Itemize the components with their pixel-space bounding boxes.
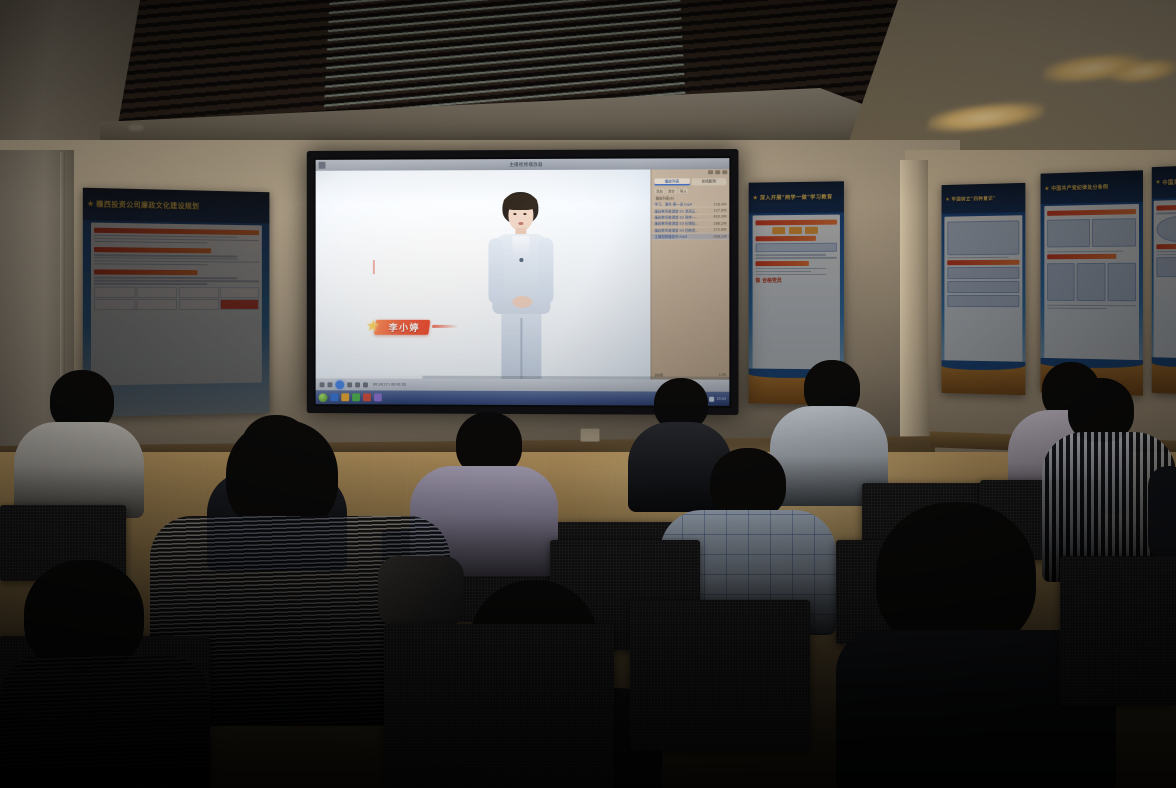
media-player-icon[interactable] <box>352 393 360 401</box>
poster-text-line <box>755 257 837 259</box>
presentation-display[interactable]: 主播视频播放器 <box>307 149 739 415</box>
poster-d-title: 中国共产党章程 <box>1162 177 1176 186</box>
poster-photo <box>220 299 259 310</box>
poster-block <box>1077 263 1105 301</box>
add-button[interactable]: 添加 <box>655 189 665 194</box>
tab-playlist[interactable]: 播放列表 <box>655 178 690 185</box>
poster-photo <box>179 287 219 298</box>
poster-ribbon <box>94 247 211 253</box>
poster-block <box>948 267 1019 279</box>
poster-photo <box>137 287 178 298</box>
office-icon[interactable] <box>363 393 371 401</box>
playlist-panel[interactable]: 播放列表 在线影院 添加 清空 导入 播放列表(6) 学习、课件-第一讲.mp4… <box>650 169 729 380</box>
poster-block <box>1157 257 1176 277</box>
party-emblem-icon: ★ <box>1044 185 1049 193</box>
app-icon <box>319 162 326 169</box>
poster-b-body <box>945 215 1022 366</box>
poster-ribbon <box>755 220 837 226</box>
playlist-item-name: 主播视频播放中.mp4 <box>655 234 688 239</box>
ceiling-speaker-icon <box>128 124 144 131</box>
stop-icon[interactable] <box>320 382 325 387</box>
presenter-figure <box>473 192 569 380</box>
poster-ribbon <box>1047 209 1135 216</box>
previous-icon[interactable] <box>327 382 332 387</box>
poster-photo <box>94 299 135 310</box>
attendee-shadow <box>0 656 210 788</box>
poster-left-title: 赣西投资公司廉政文化建设规划 <box>96 199 199 211</box>
chat-icon[interactable] <box>374 393 382 401</box>
playlist-item-name: 廉政教育微课堂 03 纪律处.. <box>655 221 698 226</box>
poster-text-line <box>94 277 237 279</box>
poster-a-body: 做 合格党员 <box>752 215 840 374</box>
chair-front-3[interactable] <box>630 600 810 750</box>
playlist-item-selected[interactable]: 主播视频播放中.mp4 306.1M <box>651 234 729 241</box>
speaker-name: 李小婷 <box>389 321 420 334</box>
poster-photo <box>220 287 259 298</box>
poster-text-line <box>1047 305 1135 307</box>
folder-icon[interactable] <box>341 393 349 401</box>
poster-left-body <box>91 222 263 385</box>
wall-socket-icon <box>580 428 600 442</box>
presenter-trouser-seam <box>520 318 522 379</box>
poster-text-line <box>948 256 1009 258</box>
attendee-1 <box>14 370 144 510</box>
tab-online-cinema[interactable]: 在线影院 <box>691 178 726 185</box>
playlist-item-name: 廉政教育微课堂 01 清风正.. <box>655 208 698 213</box>
playlist-item-size: 172.8M <box>714 228 727 232</box>
poster-chip <box>773 227 786 234</box>
attendee-front-dark-3 <box>0 560 210 788</box>
minimize-icon[interactable] <box>708 170 713 174</box>
presenter-arm <box>538 238 553 304</box>
party-emblem-icon: ★ <box>753 194 758 202</box>
poster-c-title: 中国共产党纪律处分条例 <box>1051 184 1108 193</box>
playlist-item-name: 学习、课件-第一讲.mp4 <box>655 202 692 207</box>
clear-button[interactable]: 清空 <box>666 188 676 193</box>
display-surface[interactable]: 主播视频播放器 <box>316 158 730 406</box>
video-canvas[interactable]: ★ 李小婷 <box>316 169 651 379</box>
poster-chip <box>805 227 818 234</box>
poster-ribbon <box>94 227 260 235</box>
window-controls[interactable] <box>708 170 727 174</box>
poster-text-line <box>94 280 260 282</box>
poster-d-header: ★ 中国共产党章程 <box>1152 165 1176 199</box>
poster-ribbon <box>1157 205 1176 211</box>
video-marker <box>373 260 375 274</box>
poster-b-title: 牢固树立"四种意识" <box>952 195 996 202</box>
poster-b-header: ★ 牢固树立"四种意识" <box>942 183 1026 214</box>
poster-text-line <box>1047 251 1123 253</box>
chair-front-4[interactable] <box>1060 556 1176 706</box>
poster-chip <box>789 227 802 234</box>
playback-time: 00:24:17 / 00:41:02 <box>373 382 406 386</box>
poster-photo <box>179 299 219 310</box>
poster-ribbon <box>1157 243 1176 248</box>
poster-dangzhang: ★ 中国共产党章程 <box>1152 165 1176 395</box>
poster-text-line <box>1157 250 1176 252</box>
poster-text-line <box>94 241 208 244</box>
poster-ribbon <box>948 260 1019 265</box>
poster-ribbon <box>755 261 809 266</box>
presenter-arm <box>488 238 503 304</box>
poster-a-header: ★ 深入开展"两学一做"学习教育 <box>749 181 844 213</box>
poster-text-line <box>1157 253 1176 255</box>
poster-d-body <box>1154 199 1176 362</box>
poster-block <box>1107 263 1136 302</box>
poster-left-header: ★ 赣西投资公司廉政文化建设规划 <box>83 188 270 223</box>
poster-ribbon <box>1047 254 1116 260</box>
poster-text-line <box>755 271 810 273</box>
star-icon: ★ <box>365 319 384 336</box>
presenter-mouth <box>518 222 523 225</box>
playlist-item-size: 218.4M <box>714 202 727 206</box>
play-button[interactable] <box>335 380 344 389</box>
maximize-icon[interactable] <box>715 170 720 174</box>
playlist-item-size: 186.2M <box>714 221 727 225</box>
poster-text-line <box>94 283 208 285</box>
poster-text-line <box>1047 308 1107 310</box>
party-emblem-icon: ★ <box>1155 179 1160 187</box>
poster-a-title: 深入开展"两学一做"学习教育 <box>760 194 833 202</box>
attendee-shoulders <box>14 422 144 518</box>
media-player-body: ★ 李小婷 播放列表 在线影院 添加 <box>316 169 730 380</box>
playlist-item-size: 127.6M <box>714 209 727 213</box>
poster-block <box>755 243 837 253</box>
poster-diagram <box>948 220 1019 255</box>
poster-ribbon <box>94 270 198 276</box>
window-title: 主播视频播放器 <box>325 161 729 169</box>
poster-block <box>1047 263 1075 301</box>
poster-c-header: ★ 中国共产党纪律处分条例 <box>1041 170 1143 204</box>
presenter-eye <box>523 213 526 215</box>
import-button[interactable]: 导入 <box>678 188 688 193</box>
poster-text-line <box>755 274 825 276</box>
poster-text-line <box>755 254 825 256</box>
playlist-item-size: 306.1M <box>714 234 727 238</box>
start-button-icon[interactable] <box>319 393 328 402</box>
presenter-hands <box>512 296 532 308</box>
poster-photo <box>137 299 178 310</box>
party-emblem-icon: ★ <box>945 195 949 203</box>
speaker-name-banner: ★ 李小婷 <box>374 320 430 335</box>
fullscreen-icon[interactable] <box>363 382 368 387</box>
name-banner-tail <box>432 325 458 328</box>
volume-icon[interactable] <box>355 382 360 387</box>
poster-photo-grid <box>94 287 260 311</box>
party-emblem-icon: ★ <box>87 200 94 208</box>
playlist-item-size: 420.9M <box>714 215 727 219</box>
poster-text-line <box>1157 212 1176 214</box>
room-scene: ★ 赣西投资公司廉政文化建设规划 <box>0 0 1176 788</box>
poster-highlight-text: 做 合格党员 <box>755 277 837 284</box>
playlist-item-name: 廉政教育微课堂 04 四种意.. <box>655 227 698 232</box>
poster-text-line <box>94 263 208 265</box>
browser-icon[interactable] <box>330 393 338 401</box>
presenter-fringe <box>503 194 537 210</box>
attendee-arm <box>1148 466 1176 562</box>
poster-block <box>948 281 1019 293</box>
poster-seal <box>1157 215 1176 242</box>
next-icon[interactable] <box>347 382 352 387</box>
poster-ribbon <box>755 236 815 241</box>
poster-block <box>1092 218 1136 247</box>
poster-block <box>948 295 1019 307</box>
poster-block <box>1047 219 1090 247</box>
poster-text-line <box>755 268 825 270</box>
chair-front-2[interactable] <box>384 624 614 788</box>
presenter-necklace <box>519 258 522 262</box>
close-icon[interactable] <box>722 170 727 174</box>
playlist-item-name: 廉政教育微课堂 02 两学一.. <box>655 215 698 220</box>
poster-photo <box>94 287 135 298</box>
presenter-eye <box>513 213 516 215</box>
poster-c-body <box>1045 204 1139 364</box>
